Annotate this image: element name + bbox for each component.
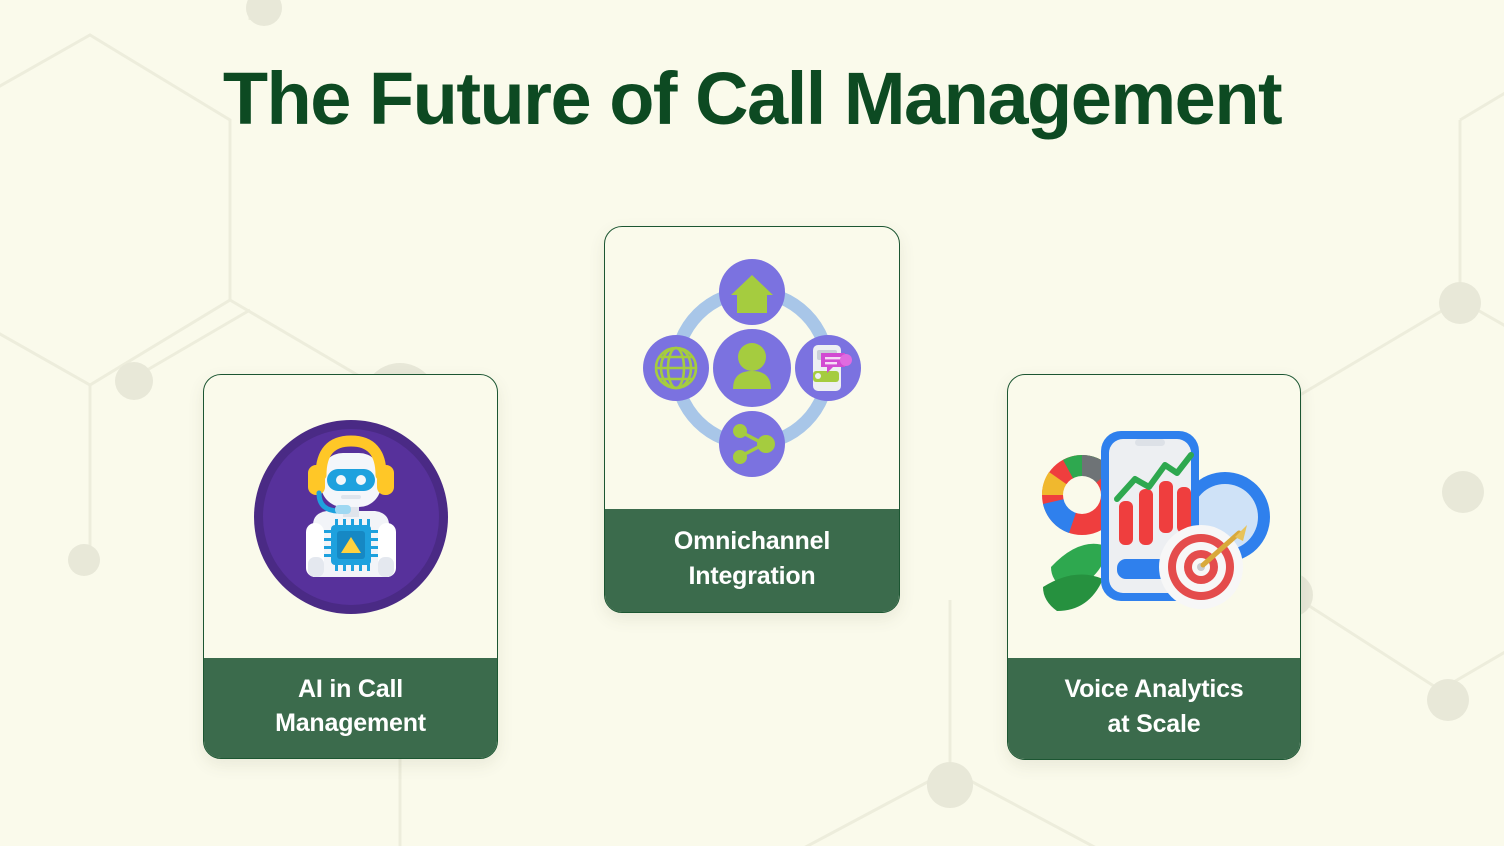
- card-voice-analytics[interactable]: Voice Analytics at Scale: [1007, 374, 1301, 760]
- card-omni-artwork: [605, 227, 899, 509]
- robot-headset-icon: [251, 417, 451, 617]
- card-voice-label-line1: Voice Analytics: [1064, 672, 1243, 707]
- slide-canvas: The Future of Call Management: [0, 0, 1504, 846]
- card-ai-label-line2: Management: [275, 706, 426, 741]
- card-voice-label: Voice Analytics at Scale: [1008, 658, 1300, 759]
- card-ai-label-line1: AI in Call: [275, 672, 426, 707]
- card-omni-label-line2: Integration: [674, 559, 830, 594]
- card-omnichannel-integration[interactable]: Omnichannel Integration: [604, 226, 900, 613]
- card-voice-label-line2: at Scale: [1064, 707, 1243, 742]
- card-ai-label: AI in Call Management: [204, 658, 497, 758]
- card-omni-label: Omnichannel Integration: [605, 509, 899, 612]
- card-voice-artwork: [1008, 375, 1300, 658]
- mobile-analytics-icon: [1029, 417, 1279, 617]
- omnichannel-network-icon: [637, 253, 867, 483]
- card-ai-artwork: [204, 375, 497, 658]
- page-title: The Future of Call Management: [0, 58, 1504, 139]
- card-ai-in-call-management[interactable]: AI in Call Management: [203, 374, 498, 759]
- card-omni-label-line1: Omnichannel: [674, 524, 830, 559]
